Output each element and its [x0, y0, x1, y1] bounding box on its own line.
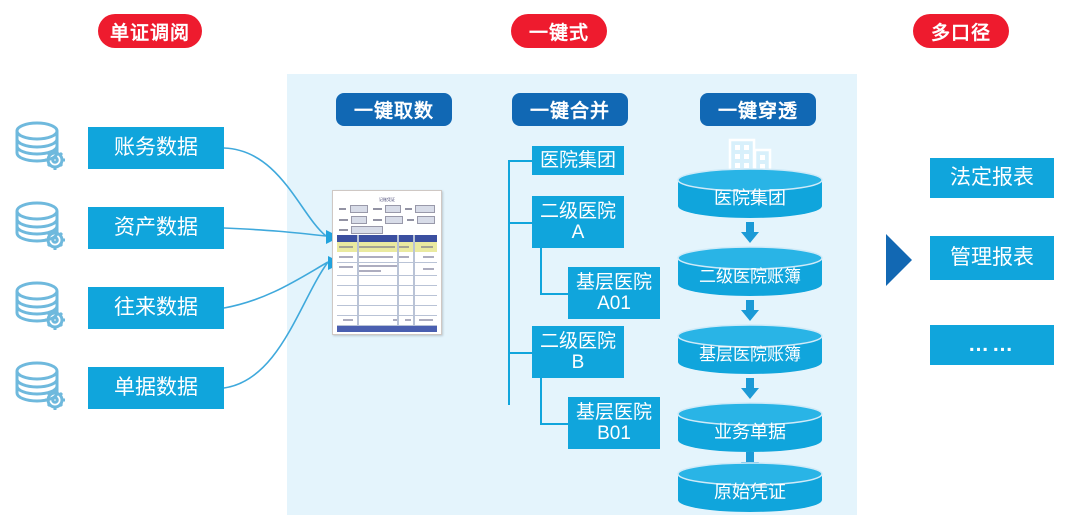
drill-step-1[interactable]: 二级医院账簿	[676, 246, 824, 296]
drill-step-0[interactable]: 医院集团	[676, 168, 824, 218]
tree-trunk	[508, 160, 510, 405]
pill-one-key-drill[interactable]: 一键穿透	[700, 93, 816, 126]
left-item-box-3[interactable]: 单据数据	[88, 367, 224, 409]
drill-step-2[interactable]: 基层医院账簿	[676, 324, 824, 374]
drill-step-0-label: 医院集团	[676, 184, 824, 210]
tree-branch-b01	[540, 423, 568, 425]
voucher-form-thumbnail[interactable]: 记账凭证	[332, 190, 442, 335]
arrow-down-icon	[739, 300, 761, 322]
drill-step-4[interactable]: 原始凭证	[676, 462, 824, 512]
drill-step-3[interactable]: 业务单据	[676, 402, 824, 452]
report-box-statutory[interactable]: 法定报表	[930, 158, 1054, 198]
drill-step-3-label: 业务单据	[676, 418, 824, 444]
tree-node-base-b01-label: 基层医院 B01	[576, 402, 652, 445]
badge-right: 多口径	[913, 14, 1009, 48]
report-box-management[interactable]: 管理报表	[930, 236, 1054, 280]
tree-node-secondary-a[interactable]: 二级医院 A	[532, 196, 624, 248]
badge-center: 一键式	[511, 14, 607, 48]
report-box-more[interactable]: ……	[930, 325, 1054, 365]
tree-node-group[interactable]: 医院集团	[532, 146, 624, 175]
tree-node-secondary-a-label: 二级医院 A	[540, 201, 616, 244]
database-gear-icon	[12, 358, 68, 414]
pill-one-key-fetch[interactable]: 一键取数	[336, 93, 452, 126]
database-gear-icon	[12, 278, 68, 334]
tree-node-base-a01-label: 基层医院 A01	[576, 272, 652, 315]
diagram-canvas: 单证调阅 一键式 多口径 账务数据	[0, 0, 1080, 531]
tree-node-base-a01[interactable]: 基层医院 A01	[568, 267, 660, 319]
badge-left: 单证调阅	[98, 14, 202, 48]
tree-branch-a01	[540, 293, 568, 295]
database-gear-icon	[12, 198, 68, 254]
triangle-right-icon	[886, 234, 912, 286]
left-item-box-2[interactable]: 往来数据	[88, 287, 224, 329]
database-gear-icon	[12, 118, 68, 174]
drill-step-1-label: 二级医院账簿	[676, 262, 824, 287]
tree-branch-root	[508, 160, 532, 162]
left-item-box-1[interactable]: 资产数据	[88, 207, 224, 249]
arrow-down-icon	[739, 222, 761, 244]
drill-step-2-label: 基层医院账簿	[676, 340, 824, 365]
left-item-box-0[interactable]: 账务数据	[88, 127, 224, 169]
drill-step-4-label: 原始凭证	[676, 478, 824, 504]
pill-one-key-merge[interactable]: 一键合并	[512, 93, 628, 126]
tree-node-secondary-b[interactable]: 二级医院 B	[532, 326, 624, 378]
tree-branch-b	[508, 352, 532, 354]
tree-branch-a	[508, 222, 532, 224]
tree-node-secondary-b-label: 二级医院 B	[540, 331, 616, 374]
tree-node-base-b01[interactable]: 基层医院 B01	[568, 397, 660, 449]
arrow-down-icon	[739, 378, 761, 400]
